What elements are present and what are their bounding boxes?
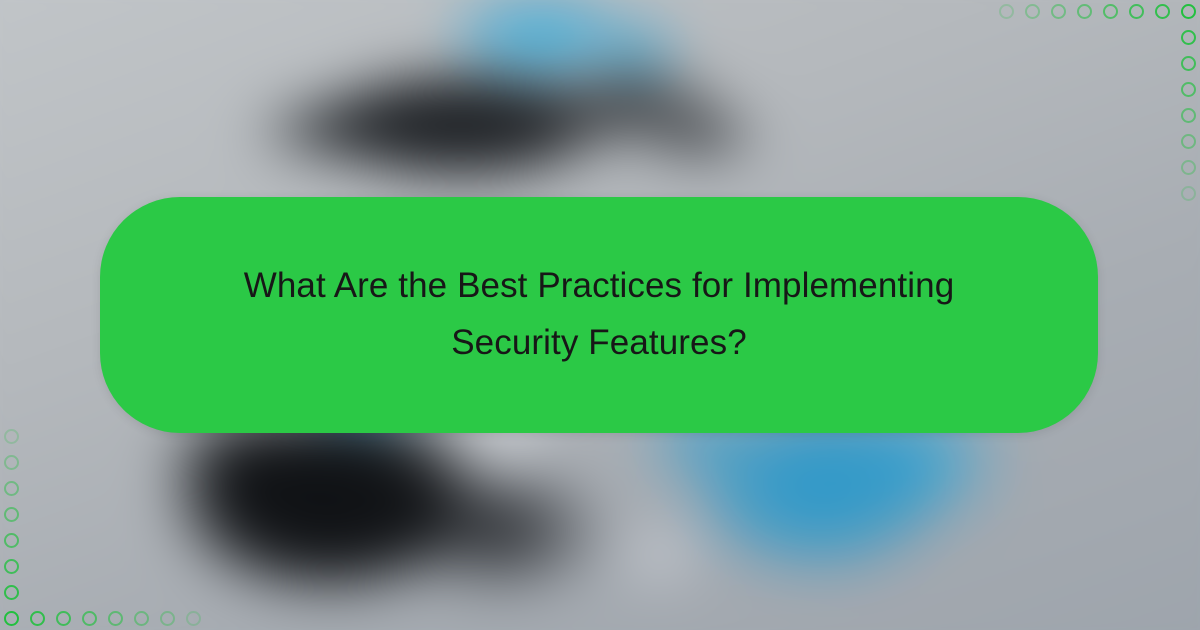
title-card: What Are the Best Practices for Implemen… [100, 197, 1098, 433]
page-title: What Are the Best Practices for Implemen… [199, 258, 999, 371]
og-image-card: What Are the Best Practices for Implemen… [0, 0, 1200, 630]
